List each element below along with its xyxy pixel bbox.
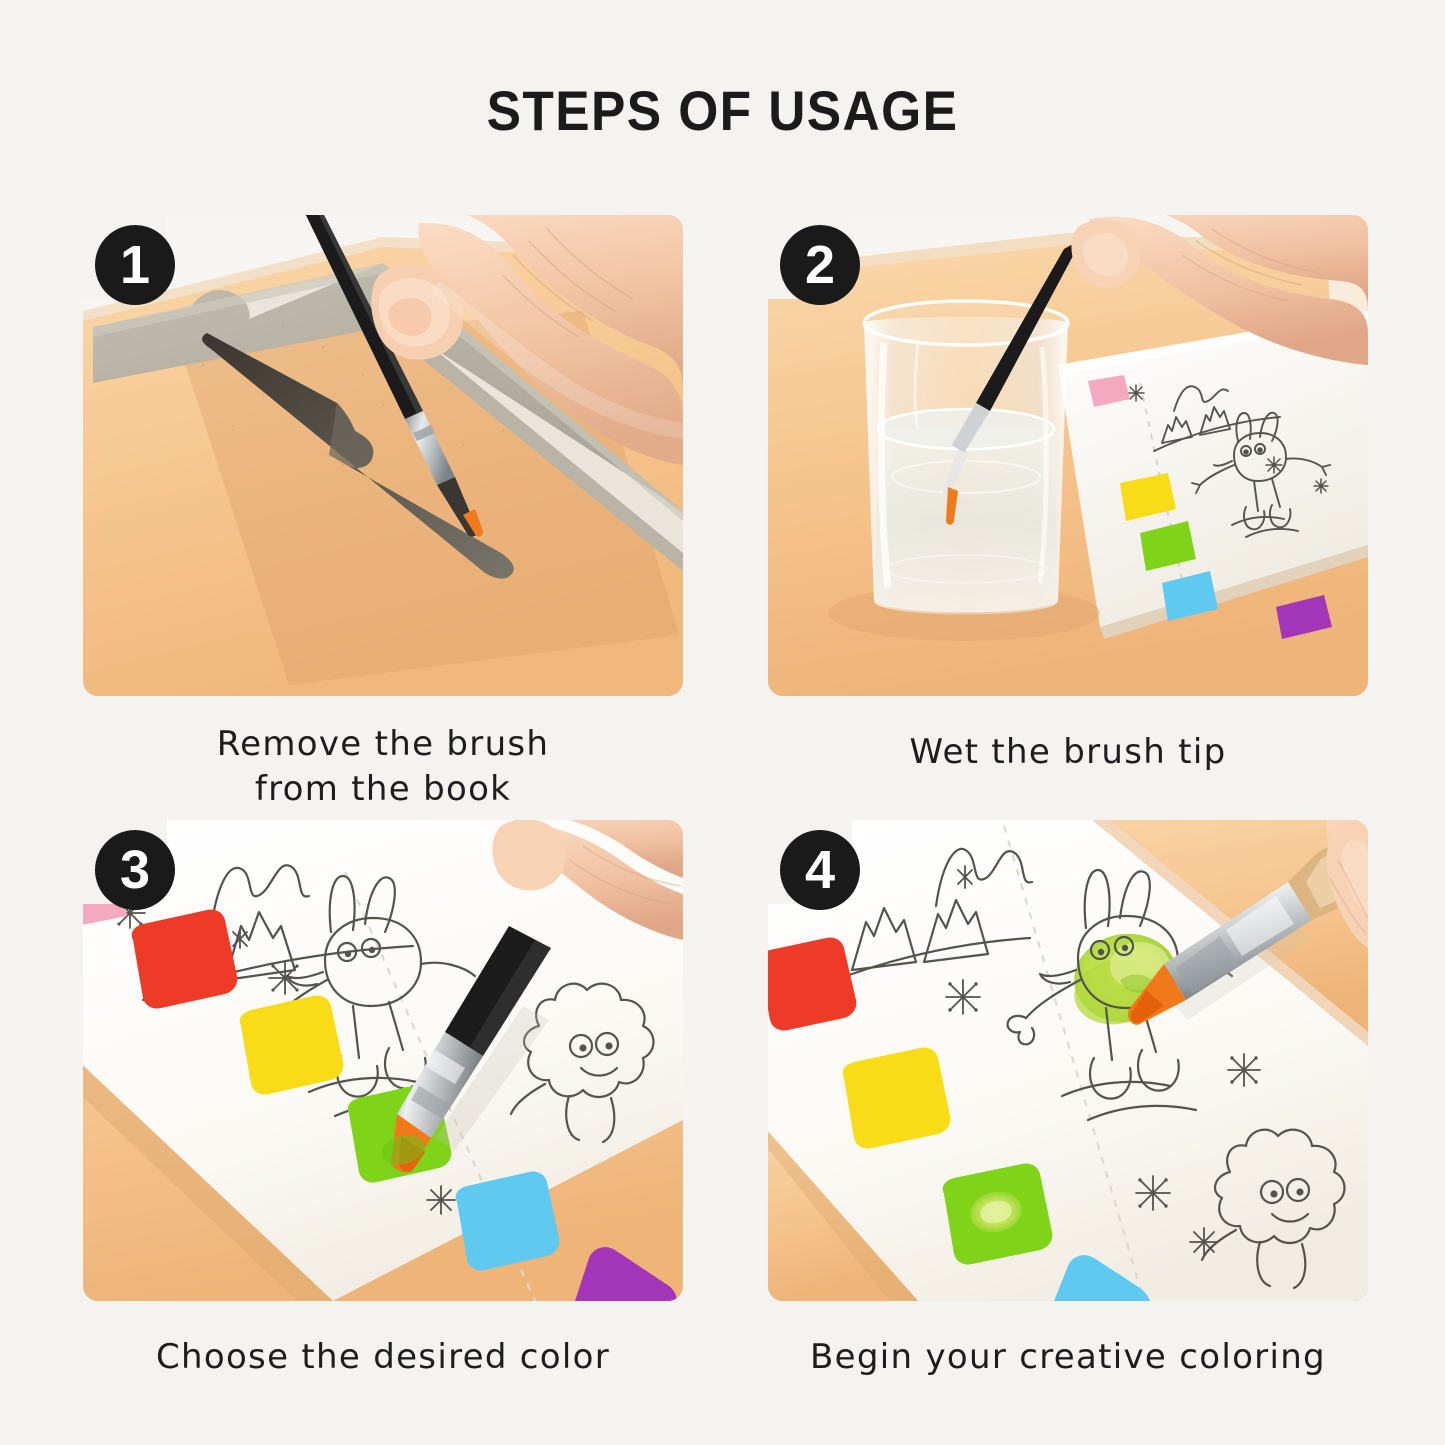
step-4: 4 Begin your creative coloring xyxy=(768,820,1368,1380)
scene-painting-the-rabbit xyxy=(768,820,1368,1301)
step-1-photo-wrap: 1 xyxy=(83,215,683,696)
steps-grid: 1 Remove the brush from the book xyxy=(83,215,1375,1410)
infographic-page: STEPS OF USAGE xyxy=(0,0,1445,1445)
step-number-badge: 2 xyxy=(780,225,860,305)
step-3-photo xyxy=(83,820,683,1301)
step-1-photo xyxy=(83,215,683,696)
scene-brush-dipped-in-water-glass xyxy=(768,215,1368,696)
step-1-caption-line-2: from the book xyxy=(83,767,683,812)
step-4-photo-wrap: 4 xyxy=(768,820,1368,1301)
step-2: 2 Wet the brush tip xyxy=(768,215,1368,775)
step-number-badge: 4 xyxy=(780,830,860,910)
step-4-caption-line-1: Begin your creative coloring xyxy=(768,1335,1368,1380)
step-1-caption: Remove the brush from the book xyxy=(83,722,683,812)
step-number-badge: 1 xyxy=(95,225,175,305)
step-number-badge: 3 xyxy=(95,830,175,910)
page-title: STEPS OF USAGE xyxy=(58,78,1387,143)
step-2-photo-wrap: 2 xyxy=(768,215,1368,696)
step-2-caption-line-1: Wet the brush tip xyxy=(768,730,1368,775)
step-1: 1 Remove the brush from the book xyxy=(83,215,683,812)
scene-brush-touching-green-swatch xyxy=(83,820,683,1301)
step-4-photo xyxy=(768,820,1368,1301)
step-3-photo-wrap: 3 xyxy=(83,820,683,1301)
step-2-caption: Wet the brush tip xyxy=(768,730,1368,775)
scene-brush-in-cardboard-book xyxy=(83,215,683,696)
step-1-caption-line-1: Remove the brush xyxy=(83,722,683,767)
step-3-caption: Choose the desired color xyxy=(83,1335,683,1380)
step-3-caption-line-1: Choose the desired color xyxy=(83,1335,683,1380)
step-2-photo xyxy=(768,215,1368,696)
step-4-caption: Begin your creative coloring xyxy=(768,1335,1368,1380)
step-3: 3 Choose the desired color xyxy=(83,820,683,1380)
